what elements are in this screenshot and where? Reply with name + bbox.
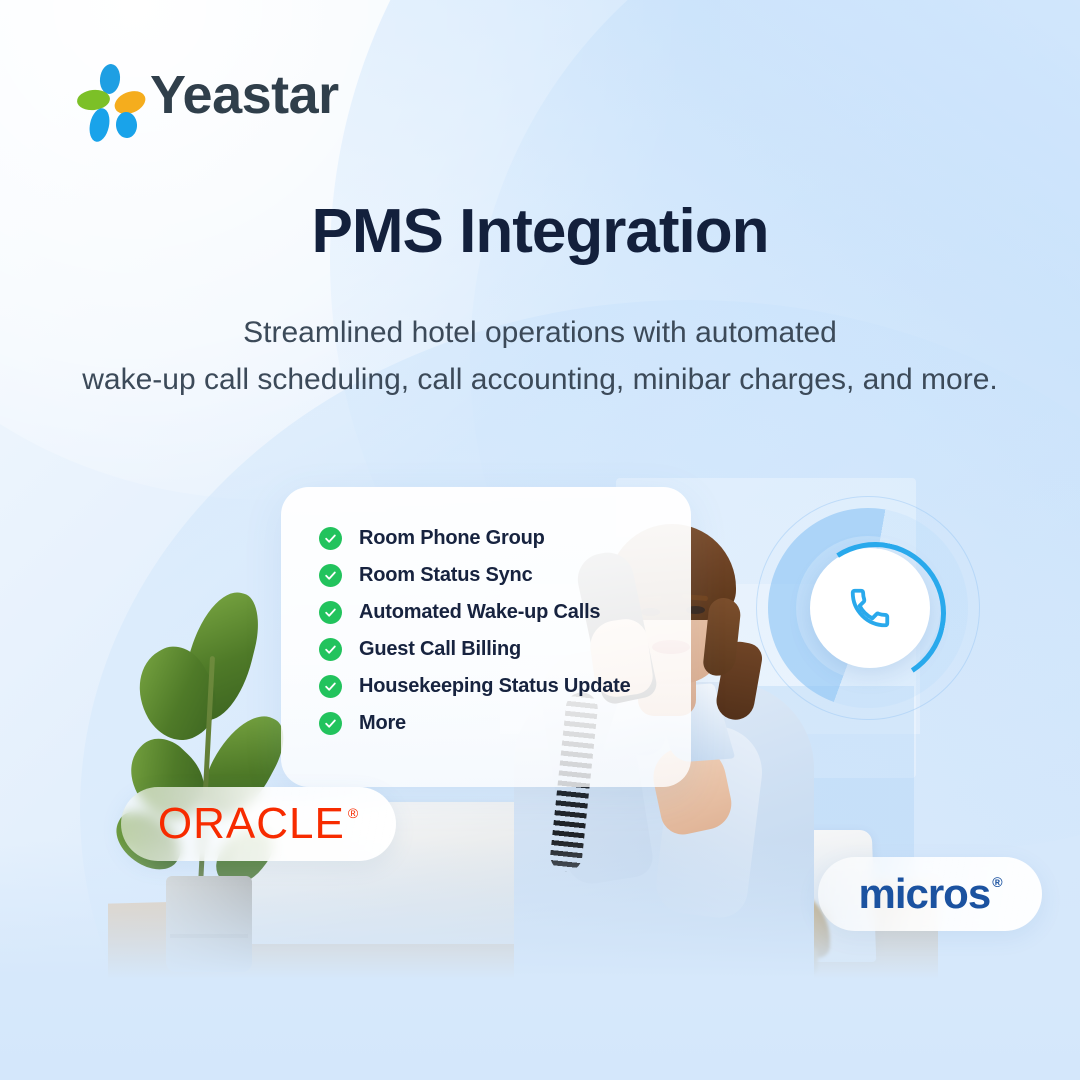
list-item[interactable]: Room Phone Group	[319, 527, 691, 550]
list-item[interactable]: Room Status Sync	[319, 564, 691, 587]
list-item-label: Guest Call Billing	[359, 638, 521, 661]
list-item-label: Room Phone Group	[359, 527, 545, 550]
page-subtitle: Streamlined hotel operations with automa…	[0, 310, 1080, 403]
call-badge[interactable]	[810, 548, 930, 668]
micros-trademark: ®	[992, 874, 1001, 890]
brand-logo[interactable]: Yeastar	[78, 64, 339, 126]
check-circle-icon	[319, 564, 342, 587]
pinwheel-petal-left	[76, 88, 111, 111]
check-circle-icon	[319, 601, 342, 624]
oracle-trademark: ®	[348, 805, 359, 821]
subtitle-line-2: wake-up call scheduling, call accounting…	[0, 357, 1080, 404]
pinwheel-petal-bottom-right	[115, 111, 138, 138]
list-item-label: More	[359, 712, 406, 735]
micros-wordmark: micros	[858, 870, 990, 918]
page-title: PMS Integration	[0, 196, 1080, 267]
potted-plant	[118, 552, 298, 972]
promo-banner: Yeastar PMS Integration Streamlined hote…	[0, 0, 1080, 1080]
list-item-label: Room Status Sync	[359, 564, 533, 587]
partner-badge-oracle[interactable]: ORACLE ®	[121, 787, 396, 861]
oracle-logo: ORACLE ®	[158, 799, 359, 849]
plant-pot	[166, 876, 252, 972]
check-circle-icon	[319, 675, 342, 698]
list-item-label: Automated Wake-up Calls	[359, 601, 600, 624]
background-corner-top-right	[720, 0, 1080, 340]
list-item-label: Housekeeping Status Update	[359, 675, 631, 698]
check-circle-icon	[319, 638, 342, 661]
hero-scene: Room Phone Group Room Status Sync Automa…	[108, 436, 938, 1002]
brand-wordmark: Yeastar	[150, 68, 339, 122]
list-item[interactable]: Guest Call Billing	[319, 638, 691, 661]
pinwheel-petal-bottom-left	[87, 106, 113, 143]
phone-handset-icon	[847, 585, 893, 631]
list-item[interactable]: More	[319, 712, 691, 735]
check-circle-icon	[319, 527, 342, 550]
check-circle-icon	[319, 712, 342, 735]
subtitle-line-1: Streamlined hotel operations with automa…	[0, 310, 1080, 357]
list-item[interactable]: Automated Wake-up Calls	[319, 601, 691, 624]
micros-logo: micros ®	[858, 870, 1001, 918]
list-item[interactable]: Housekeeping Status Update	[319, 675, 691, 698]
feature-list-card: Room Phone Group Room Status Sync Automa…	[281, 487, 691, 787]
yeastar-pinwheel-icon	[78, 64, 136, 126]
partner-badge-micros[interactable]: micros ®	[818, 857, 1042, 931]
oracle-wordmark: ORACLE	[158, 799, 345, 849]
